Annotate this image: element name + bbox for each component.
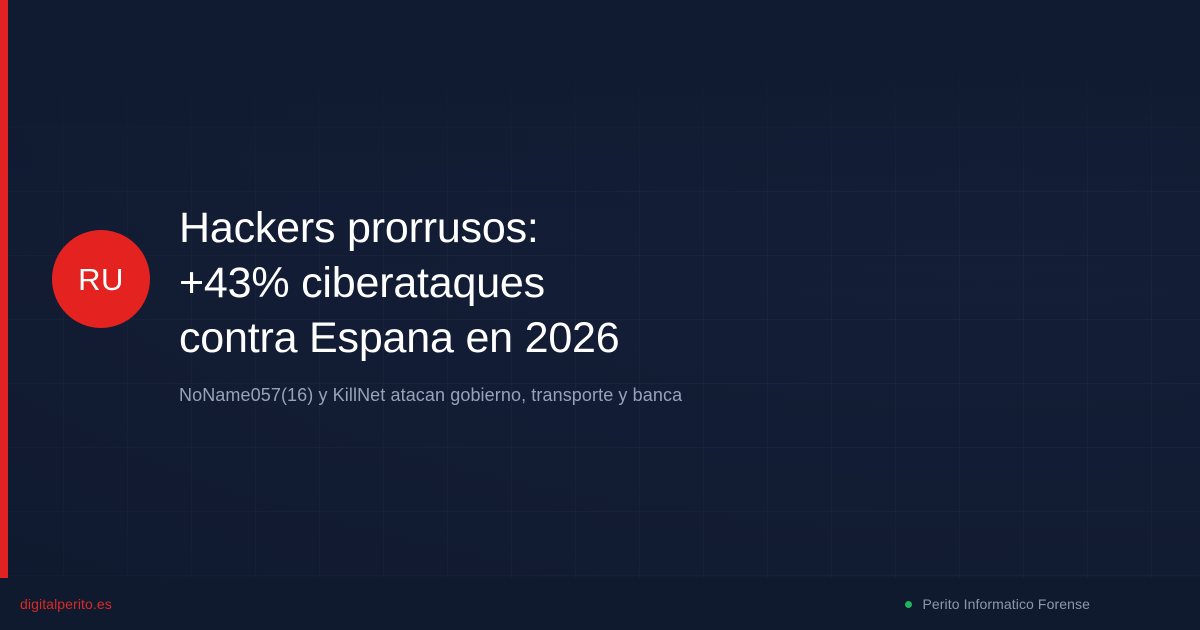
- brand-label: digitalperito.es: [20, 596, 112, 612]
- headline-line-2: +43% ciberataques: [179, 256, 1079, 311]
- page-subtitle: NoName057(16) y KillNet atacan gobierno,…: [179, 383, 682, 407]
- page-title: Hackers prorrusos: +43% ciberataques con…: [179, 201, 1079, 366]
- footer-tagline: Perito Informatico Forense: [922, 596, 1090, 612]
- footer-status: Perito Informatico Forense: [905, 596, 1090, 612]
- headline-line-3: contra Espana en 2026: [179, 311, 1079, 366]
- card-content: RU Hackers prorrusos: +43% ciberataques …: [0, 0, 1200, 578]
- country-badge-ru: RU: [52, 230, 150, 328]
- social-card: RU Hackers prorrusos: +43% ciberataques …: [0, 0, 1200, 630]
- left-accent-bar: [0, 0, 8, 578]
- headline-line-1: Hackers prorrusos:: [179, 201, 1079, 256]
- card-footer: digitalperito.es Perito Informatico Fore…: [0, 578, 1200, 630]
- status-dot-icon: [905, 601, 912, 608]
- country-badge-label: RU: [78, 264, 124, 295]
